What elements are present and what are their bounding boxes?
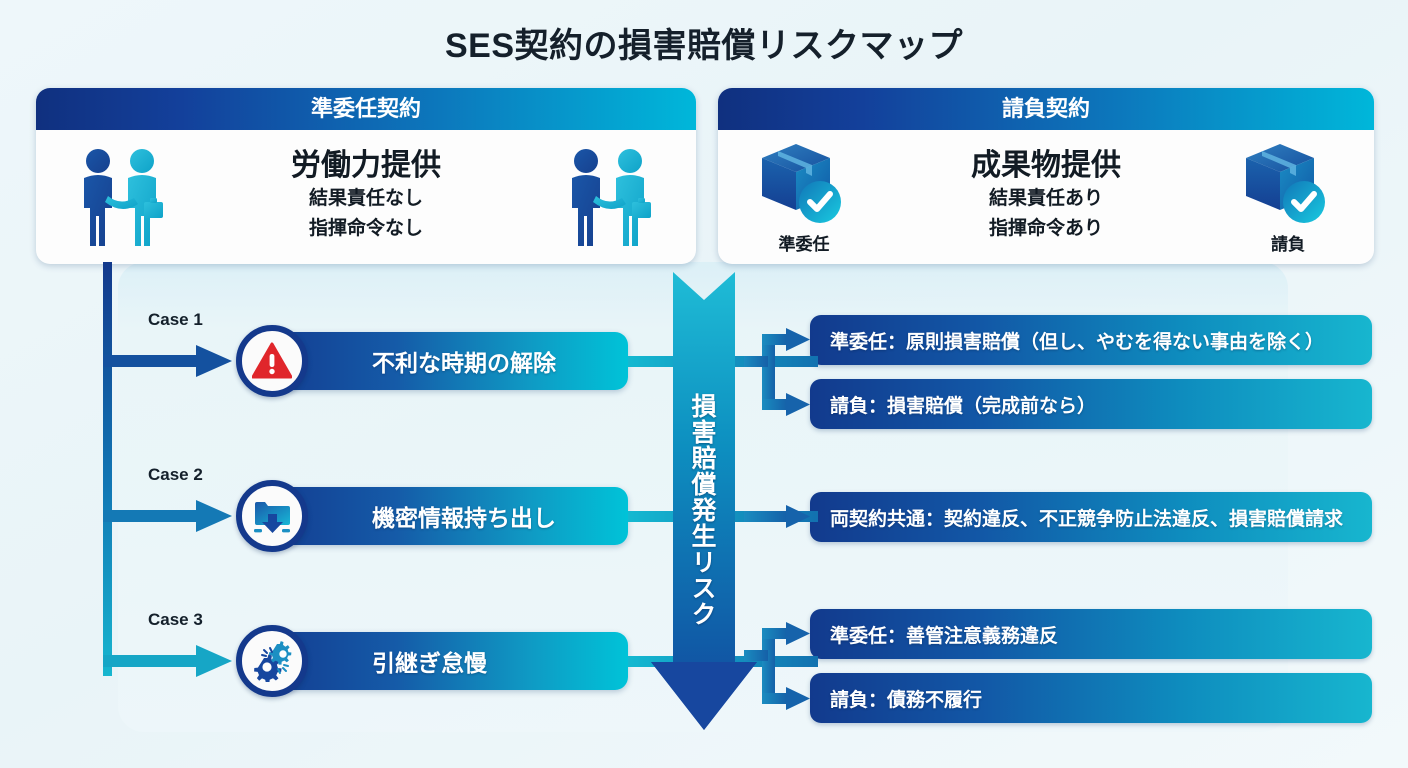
warning-triangle-icon	[252, 342, 292, 380]
center-risk-arrow-label: 損害賠償発生リスク	[688, 330, 720, 690]
case-icon-badge	[236, 480, 308, 552]
fork-connector-group1	[744, 324, 810, 416]
gears-icon	[250, 640, 294, 682]
folder-download-icon	[251, 496, 293, 536]
infographic-canvas: SES契約の損害賠償リスクマップ	[0, 0, 1408, 768]
connector-outcome3	[744, 505, 810, 528]
center-risk-arrow: 損害賠償発生リスク	[673, 272, 735, 730]
case-icon-badge	[236, 625, 308, 697]
case-icon-badge	[236, 325, 308, 397]
left-branch-connector	[103, 262, 232, 677]
